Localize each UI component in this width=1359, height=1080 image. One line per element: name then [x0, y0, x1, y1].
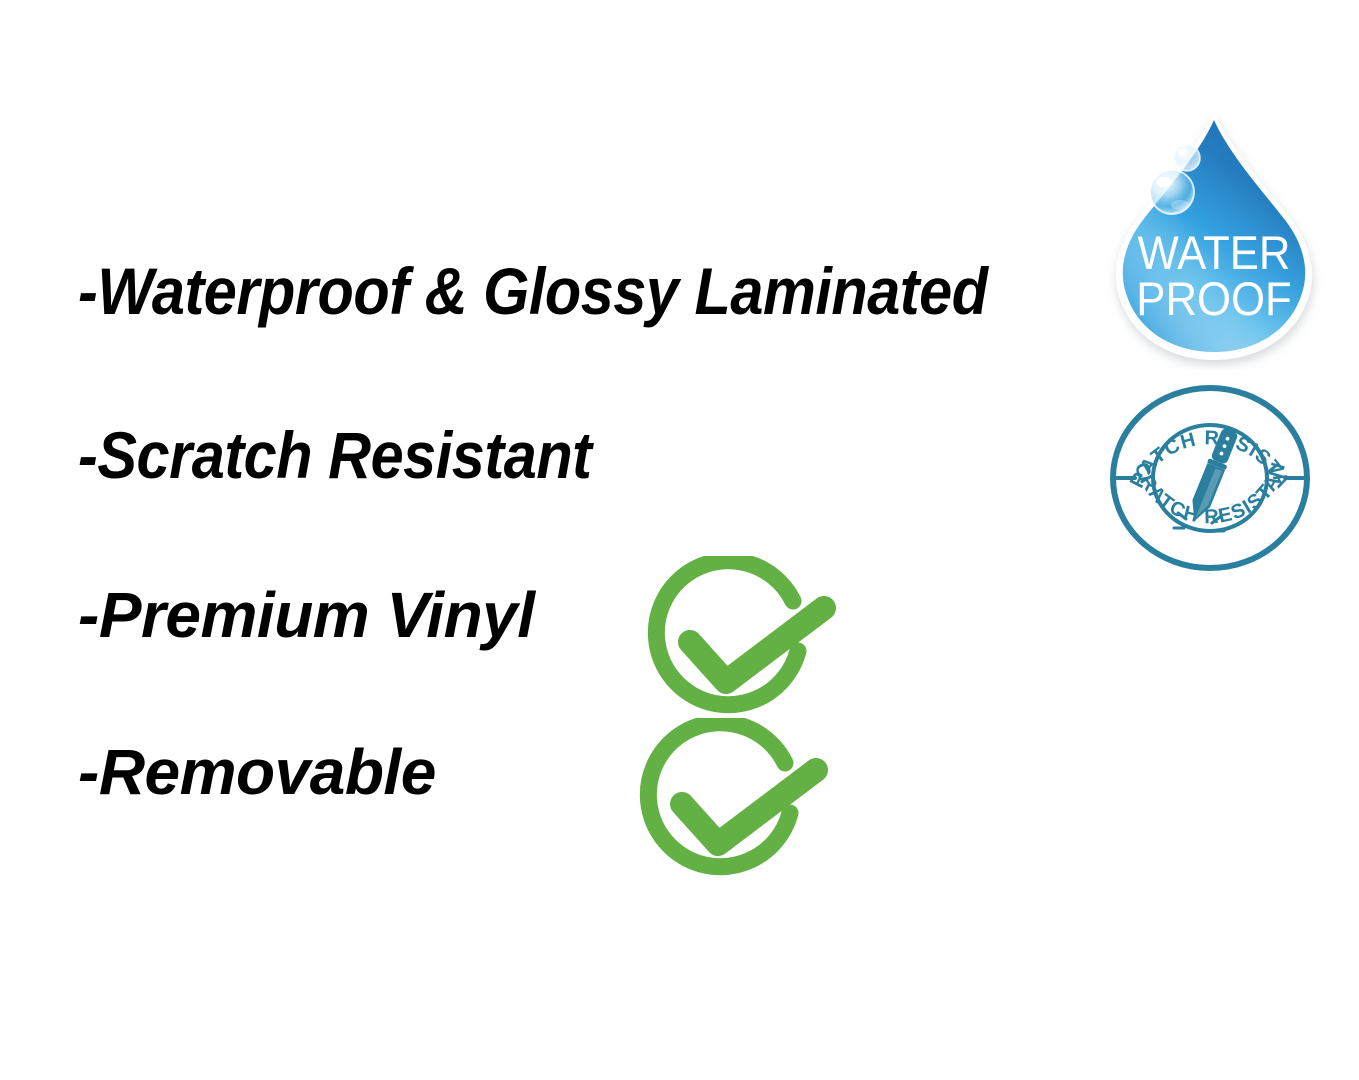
- page-canvas: -Waterproof & Glossy Laminated -Scratch …: [0, 0, 1359, 1080]
- feature-item-waterproof-glossy-laminated: -Waterproof & Glossy Laminated: [78, 258, 1005, 324]
- waterproof-line2: PROOF: [1136, 273, 1291, 326]
- waterproof-droplet-badge: WATER PROOF: [1098, 104, 1330, 370]
- waterproof-line1: WATER: [1138, 227, 1291, 280]
- scratch-resistant-badge: SCRATCH RESISTANT SCRATCH RESISTANT: [1108, 383, 1312, 573]
- feature-item-premium-vinyl: -Premium Vinyl: [78, 583, 1108, 647]
- feature-list: -Waterproof & Glossy Laminated -Scratch …: [78, 258, 1108, 804]
- feature-item-removable: -Removable: [78, 740, 1108, 804]
- bubble-large-icon: [1150, 170, 1194, 214]
- check-mark-removable-icon: [630, 718, 830, 878]
- feature-item-scratch-resistant: -Scratch Resistant: [78, 422, 1005, 488]
- bubble-small-icon: [1174, 145, 1200, 171]
- check-mark-premium-vinyl-icon: [638, 556, 838, 716]
